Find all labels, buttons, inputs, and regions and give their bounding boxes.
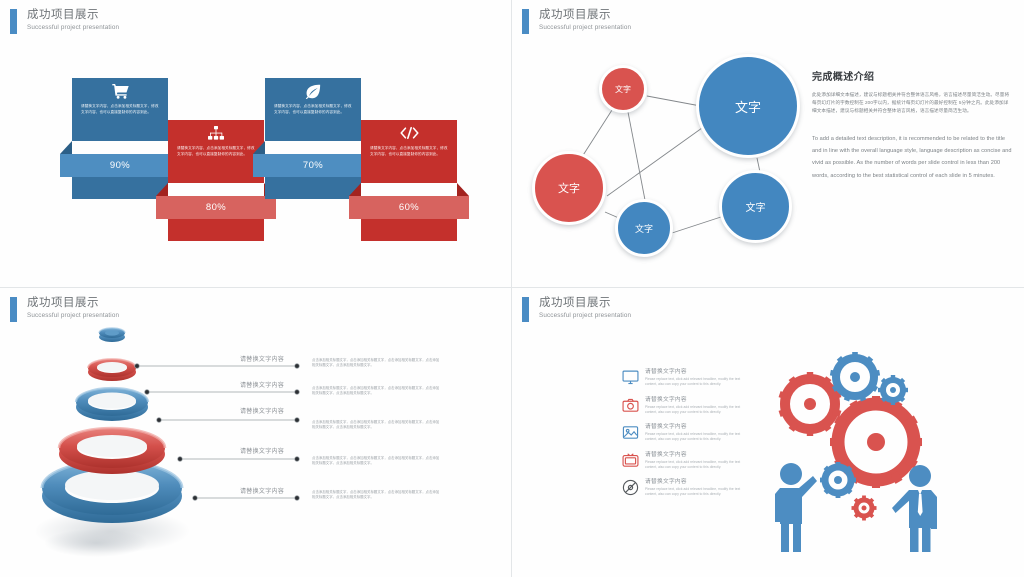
slide-deck-grid: 成功项目展示 Successful project presentation 请… [0, 0, 1024, 577]
funnel-stem [168, 219, 264, 241]
node-label: 文字 [746, 199, 766, 214]
feature-title: 请替换文字内容 [645, 368, 751, 376]
feature-title: 请替换文字内容 [645, 423, 751, 431]
funnel-stem [361, 219, 457, 241]
overview-paragraph-en: To add a detailed text description, it i… [812, 133, 1012, 183]
page-title: 成功项目展示 [539, 297, 631, 310]
slide-icon-list-gears: 成功项目展示 Successful project presentation 请… [512, 288, 1024, 577]
picture-icon [622, 424, 639, 441]
feature-list: 请替换文字内容 Please replace text, click add r… [622, 368, 751, 506]
funnel-description: 请替换文字内容，点击添加相关标题文字，修改文字内容，也可以直接复制你的内容到此。 [175, 146, 257, 157]
disc-icon [622, 479, 639, 496]
monitor-icon [622, 369, 639, 386]
feature-text: Please replace text, click add relevant … [645, 377, 751, 387]
gear-blue-small-top [878, 375, 908, 405]
funnel-wing-right [457, 183, 469, 196]
funnel-wing-left [60, 141, 72, 154]
feature-title: 请替换文字内容 [645, 451, 751, 459]
feature-text: Please replace text, click add relevant … [645, 460, 751, 470]
page-subtitle: Successful project presentation [27, 23, 119, 33]
funnel-stem [265, 177, 361, 199]
org-chart-icon [175, 126, 257, 146]
slide-funnel-percentages: 成功项目展示 Successful project presentation 请… [0, 0, 512, 288]
overview-paragraph-cn: 此处添加详细文本描述，建议与标题相关并符合整体语言风格，语言描述尽量简洁生动。尽… [812, 91, 1012, 116]
node-label: 文字 [735, 97, 761, 116]
feature-item-5[interactable]: 请替换文字内容 Please replace text, click add r… [622, 478, 751, 497]
feature-text: Please replace text, click add relevant … [645, 405, 751, 415]
ring-callout-group: 请替换文字内容 点击添加相关标题文字，点击添加相关标题文字，点击添加相关标题文字… [0, 288, 512, 577]
funnel-description: 请替换文字内容，点击添加相关标题文字，修改文字内容，也可以直接复制你的内容到此。 [368, 146, 450, 157]
funnel-item-4[interactable]: 请替换文字内容，点击添加相关标题文字，修改文字内容，也可以直接复制你的内容到此。… [361, 120, 457, 241]
shopping-cart-icon [79, 84, 161, 104]
feature-item-4[interactable]: 请替换文字内容 Please replace text, click add r… [622, 451, 751, 470]
network-graph: 文字 文字 文字 文字 文字 完成概述介绍 此处添加详细文本描述，建议与标题相关… [512, 0, 1024, 288]
gear-blue-small-bottom [820, 462, 856, 498]
funnel-item-2[interactable]: 请替换文字内容，点击添加相关标题文字，修改文字内容，也可以直接复制你的内容到此。… [168, 120, 264, 241]
page-subtitle: Successful project presentation [539, 311, 631, 321]
ring-callout-label-1[interactable]: 请替换文字内容 [240, 354, 284, 363]
overview-panel: 完成概述介绍 此处添加详细文本描述，建议与标题相关并符合整体语言风格，语言描述尽… [812, 68, 1012, 182]
leaf-icon [272, 84, 354, 104]
feature-item-2[interactable]: 请替换文字内容 Please replace text, click add r… [622, 396, 751, 415]
funnel-percent-2: 80% [156, 196, 276, 219]
slide-header: 成功项目展示 Successful project presentation [522, 297, 631, 322]
funnel-description: 请替换文字内容，点击添加相关标题文字，修改文字内容，也可以直接复制你的内容到此。 [79, 104, 161, 115]
overview-heading: 完成概述介绍 [812, 68, 1012, 83]
network-node-4[interactable]: 文字 [615, 199, 673, 257]
ring-callout-label-2[interactable]: 请替换文字内容 [240, 380, 284, 389]
feature-text: Please replace text, click add relevant … [645, 487, 751, 497]
funnel-item-3[interactable]: 请替换文字内容，点击添加相关标题文字，修改文字内容，也可以直接复制你的内容到此。… [265, 78, 361, 199]
funnel-percent-1: 90% [60, 154, 180, 177]
network-node-1[interactable]: 文字 [599, 65, 647, 113]
gear-red-medium [779, 372, 842, 436]
funnel-percent-3: 70% [253, 154, 373, 177]
slide-network-diagram: 成功项目展示 Successful project presentation 文… [512, 0, 1024, 288]
network-node-5[interactable]: 文字 [719, 170, 792, 243]
node-label: 文字 [635, 222, 653, 235]
code-icon [368, 126, 450, 146]
funnel-description: 请替换文字内容，点击添加相关标题文字，修改文字内容，也可以直接复制你的内容到此。 [272, 104, 354, 115]
gear-red-large [830, 396, 922, 488]
network-node-2[interactable]: 文字 [696, 54, 800, 158]
ring-callout-label-3[interactable]: 请替换文字内容 [240, 406, 284, 415]
feature-item-3[interactable]: 请替换文字内容 Please replace text, click add r… [622, 423, 751, 442]
ring-callout-text-5: 点击添加相关标题文字，点击添加相关标题文字，点击添加相关标题文字，点击添加相关标… [312, 490, 440, 501]
slide-header: 成功项目展示 Successful project presentation [10, 9, 119, 34]
ring-callout-text-4: 点击添加相关标题文字，点击添加相关标题文字，点击添加相关标题文字，点击添加相关标… [312, 456, 440, 467]
ring-callout-text-3: 点击添加相关标题文字，点击添加相关标题文字，点击添加相关标题文字，点击添加相关标… [312, 420, 440, 431]
page-title: 成功项目展示 [27, 9, 119, 22]
ring-callout-label-5[interactable]: 请替换文字内容 [240, 486, 284, 495]
network-node-3[interactable]: 文字 [532, 151, 606, 225]
header-accent-bar [10, 9, 17, 34]
person-left-figure [775, 463, 817, 552]
funnel-stem [72, 177, 168, 199]
feature-text: Please replace text, click add relevant … [645, 432, 751, 442]
ring-callout-text-2: 点击添加相关标题文字，点击添加相关标题文字，点击添加相关标题文字，点击添加相关标… [312, 386, 440, 397]
funnel-percent-4: 60% [349, 196, 469, 219]
funnel-group: 请替换文字内容，点击添加相关标题文字，修改文字内容，也可以直接复制你的内容到此。… [0, 78, 512, 248]
funnel-item-1[interactable]: 请替换文字内容，点击添加相关标题文字，修改文字内容，也可以直接复制你的内容到此。… [72, 78, 168, 199]
feature-title: 请替换文字内容 [645, 396, 751, 404]
tv-icon [622, 452, 639, 469]
node-label: 文字 [615, 84, 631, 95]
feature-item-1[interactable]: 请替换文字内容 Please replace text, click add r… [622, 368, 751, 387]
gear-red-small [852, 496, 877, 521]
ring-callout-text-1: 点击添加相关标题文字，点击添加相关标题文字，点击添加相关标题文字，点击添加相关标… [312, 358, 440, 369]
header-accent-bar [522, 297, 529, 322]
feature-title: 请替换文字内容 [645, 478, 751, 486]
node-label: 文字 [558, 180, 580, 196]
gears-and-people-illustration [768, 352, 968, 552]
slide-ring-stack: 成功项目展示 Successful project presentation [0, 288, 512, 577]
ring-callout-label-4[interactable]: 请替换文字内容 [240, 446, 284, 455]
camera-icon [622, 397, 639, 414]
